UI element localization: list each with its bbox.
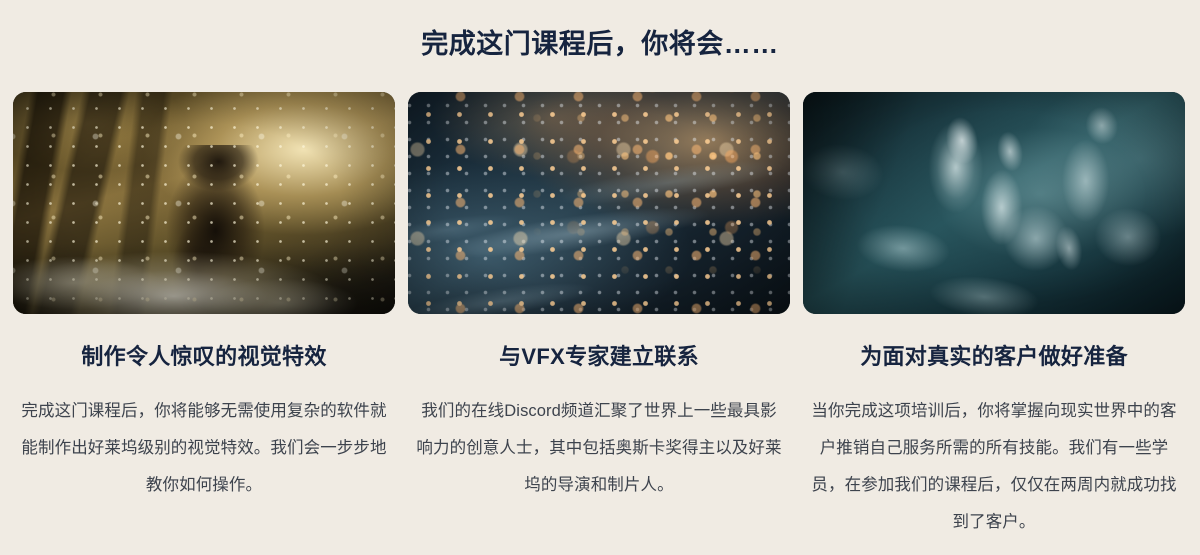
benefit-body-3: 当你完成这项培训后，你将掌握向现实世界中的客户推销自己服务所需的所有技能。我们有… [811,393,1177,541]
benefit-image-1 [13,92,395,314]
benefit-card-2: 与VFX专家建立联系 我们的在线Discord频道汇聚了世界上一些最具影响力的创… [408,92,790,541]
benefit-image-2 [408,92,790,314]
benefit-image-3 [803,92,1185,314]
image-vignette-layer [408,92,790,314]
benefit-heading-2: 与VFX专家建立联系 [499,343,699,371]
image-vignette-layer [13,92,395,314]
benefit-card-1: 制作令人惊叹的视觉特效 完成这门课程后，你将能够无需使用复杂的软件就能制作出好莱… [13,92,395,541]
image-vignette-layer [803,92,1185,314]
benefit-card-3: 为面对真实的客户做好准备 当你完成这项培训后，你将掌握向现实世界中的客户推销自己… [803,92,1185,541]
benefit-body-2: 我们的在线Discord频道汇聚了世界上一些最具影响力的创意人士，其中包括奥斯卡… [416,393,782,504]
benefits-section: 完成这门课程后，你将会…… 制作令人惊叹的视觉特效 完成这门课程后，你将能够无需… [0,0,1200,555]
benefit-heading-1: 制作令人惊叹的视觉特效 [81,343,326,371]
section-title: 完成这门课程后，你将会…… [0,28,1200,60]
benefit-heading-3: 为面对真实的客户做好准备 [860,343,1128,371]
benefit-body-1: 完成这门课程后，你将能够无需使用复杂的软件就能制作出好莱坞级别的视觉特效。我们会… [21,393,387,504]
benefit-card-list: 制作令人惊叹的视觉特效 完成这门课程后，你将能够无需使用复杂的软件就能制作出好莱… [13,92,1187,541]
